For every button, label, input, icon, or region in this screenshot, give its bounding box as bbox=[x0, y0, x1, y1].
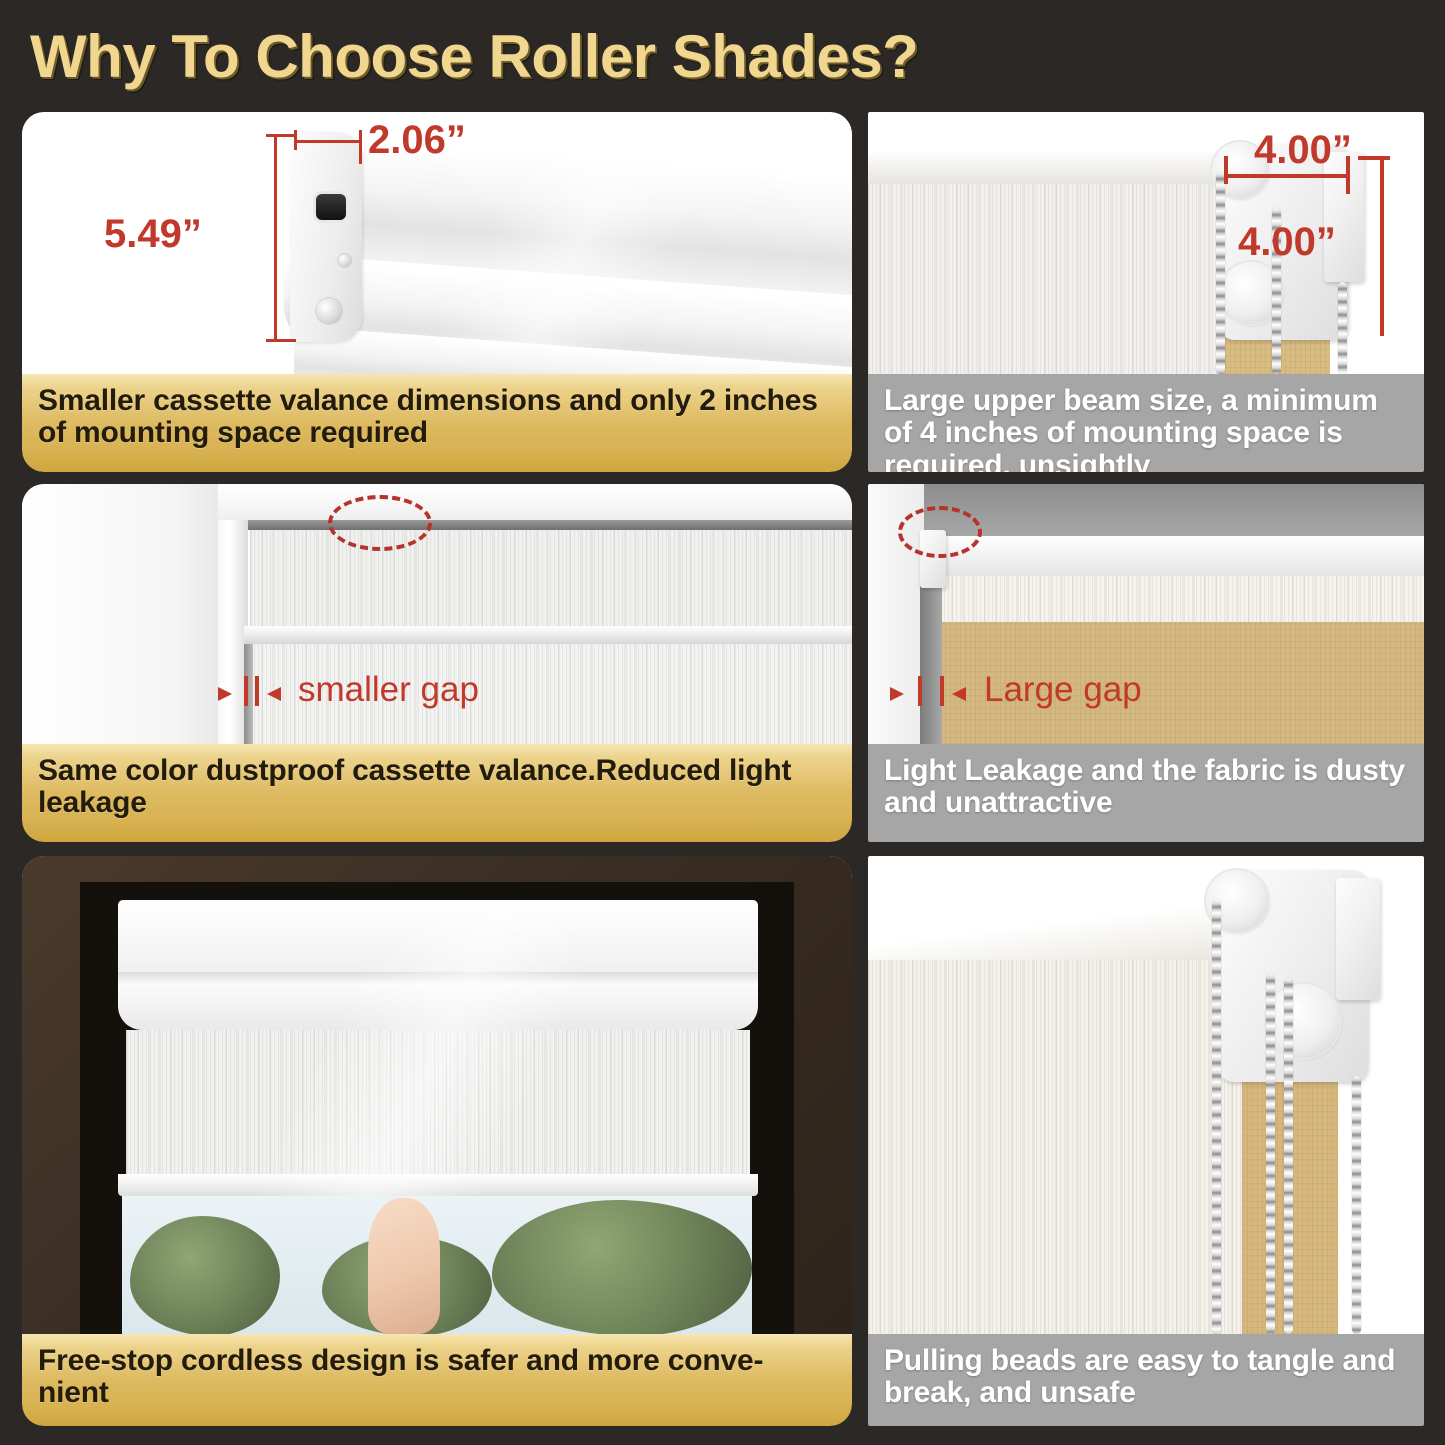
upper-beam-fabric-white bbox=[868, 160, 1228, 374]
bead-chain-right bbox=[1338, 282, 1347, 374]
beam-height-label: 4.00” bbox=[1238, 220, 1336, 265]
panel-3-photo: smaller gap bbox=[22, 484, 852, 744]
height-tick-bottom bbox=[266, 339, 296, 342]
panel-large-upper-beam: 4.00” 4.00” Large upper beam size, a min… bbox=[868, 112, 1424, 472]
seam-highlight-ellipse bbox=[328, 495, 432, 551]
cassette-shade-upper bbox=[250, 530, 852, 626]
window-casing-top bbox=[218, 484, 852, 520]
leakage-highlight-ellipse bbox=[898, 506, 982, 558]
panel-1-caption: Smaller cassette valance dimensions and … bbox=[22, 374, 852, 472]
window-shade-fabric bbox=[126, 1030, 750, 1182]
large-gap-tick-right bbox=[940, 676, 944, 706]
panel-2-photo: 4.00” 4.00” bbox=[868, 112, 1424, 374]
height-tick-top bbox=[266, 134, 296, 137]
beam-height-line bbox=[1380, 156, 1384, 336]
beam-width-label: 4.00” bbox=[1254, 128, 1352, 173]
beads-bracket-tab bbox=[1336, 878, 1380, 1000]
window-wall bbox=[22, 484, 234, 744]
valance-screw-lower bbox=[316, 298, 342, 324]
beam-width-tick-left bbox=[1224, 156, 1228, 184]
cassette-mid-rail bbox=[244, 626, 852, 644]
width-dimension-label: 2.06” bbox=[368, 118, 466, 163]
panel-3-caption: Same color dustproof cassette valance.Re… bbox=[22, 744, 852, 842]
height-dimension-label: 5.49” bbox=[104, 212, 202, 257]
large-gap-strip bbox=[920, 576, 942, 744]
panel-2-caption: Large upper beam size, a minimum of 4 in… bbox=[868, 374, 1424, 472]
tree-right bbox=[492, 1200, 752, 1334]
leakage-ceiling-recess bbox=[924, 484, 1424, 540]
gap-tick-left bbox=[244, 676, 248, 706]
beads-chain-right bbox=[1352, 1076, 1361, 1334]
gap-arrow-right bbox=[267, 687, 281, 701]
width-tick-right bbox=[359, 130, 362, 164]
panel-5-caption-text: Free-stop cordless design is safer and m… bbox=[38, 1345, 836, 1410]
panel-dustproof-cassette-valance: smaller gap Same color dustproof cassett… bbox=[22, 484, 852, 842]
window-valance-cassette bbox=[118, 900, 758, 978]
panel-cassette-valance-dimensions: 2.06” 5.49” Smaller cassette valance dim… bbox=[22, 112, 852, 472]
smaller-gap-label: smaller gap bbox=[298, 670, 479, 710]
panel-6-caption-text: Pulling beads are easy to tangle and bre… bbox=[884, 1345, 1408, 1410]
large-gap-label: Large gap bbox=[984, 670, 1142, 710]
panel-4-caption-text: Light Leakage and the fabric is dusty an… bbox=[884, 755, 1408, 820]
panel-4-caption: Light Leakage and the fabric is dusty an… bbox=[868, 744, 1424, 842]
window-shade-bottom-rail bbox=[118, 1174, 758, 1196]
panel-4-photo: Large gap bbox=[868, 484, 1424, 744]
large-gap-tick-left bbox=[918, 676, 922, 706]
beam-height-tick-top bbox=[1358, 156, 1390, 160]
infographic-board: Why To Choose Roller Shades? 2.06” 5.49 bbox=[0, 0, 1445, 1445]
panel-1-photo: 2.06” 5.49” bbox=[22, 112, 852, 374]
panel-1-caption-text: Smaller cassette valance dimensions and … bbox=[38, 385, 836, 450]
panel-cordless-free-stop-design: Free-stop cordless design is safer and m… bbox=[22, 856, 852, 1426]
beads-chain-middle-a bbox=[1266, 974, 1275, 1334]
panel-6-photo bbox=[868, 856, 1424, 1334]
panel-5-caption: Free-stop cordless design is safer and m… bbox=[22, 1334, 852, 1426]
valance-slot-hole bbox=[316, 194, 346, 220]
large-gap-arrow-right bbox=[952, 687, 966, 701]
panel-6-caption: Pulling beads are easy to tangle and bre… bbox=[868, 1334, 1424, 1426]
gap-arrow-left bbox=[218, 687, 232, 701]
panel-3-caption-text: Same color dustproof cassette valance.Re… bbox=[38, 755, 836, 820]
bead-chain-left bbox=[1216, 172, 1225, 374]
leakage-roller-tube bbox=[940, 536, 1424, 576]
panel-light-leakage-dusty-fabric: Large gap Light Leakage and the fabric i… bbox=[868, 484, 1424, 842]
height-dimension-line bbox=[274, 134, 277, 342]
panel-pulling-beads-tangle: Pulling beads are easy to tangle and bre… bbox=[868, 856, 1424, 1426]
beads-roller-end-bottom bbox=[1266, 984, 1340, 1058]
beam-width-line bbox=[1224, 174, 1350, 178]
window-valance-roll bbox=[118, 984, 758, 1030]
large-gap-arrow-left bbox=[890, 687, 904, 701]
tree-left bbox=[130, 1216, 280, 1334]
width-tick-left bbox=[294, 130, 297, 150]
panel-5-photo bbox=[22, 856, 852, 1334]
gap-tick-right bbox=[255, 676, 259, 706]
panel-2-caption-text: Large upper beam size, a minimum of 4 in… bbox=[884, 385, 1408, 472]
upper-beam-roller-tube bbox=[868, 150, 1228, 184]
leakage-fabric-white bbox=[940, 576, 1424, 622]
page-title: Why To Choose Roller Shades? bbox=[30, 18, 1030, 96]
beads-chain-left bbox=[1212, 900, 1221, 1334]
beads-chain-middle-b bbox=[1284, 978, 1293, 1334]
beads-fabric-white bbox=[868, 960, 1264, 1334]
width-dimension-line bbox=[294, 140, 362, 143]
valance-screw-upper bbox=[338, 254, 351, 267]
hand-grabbing-rail bbox=[368, 1198, 440, 1334]
